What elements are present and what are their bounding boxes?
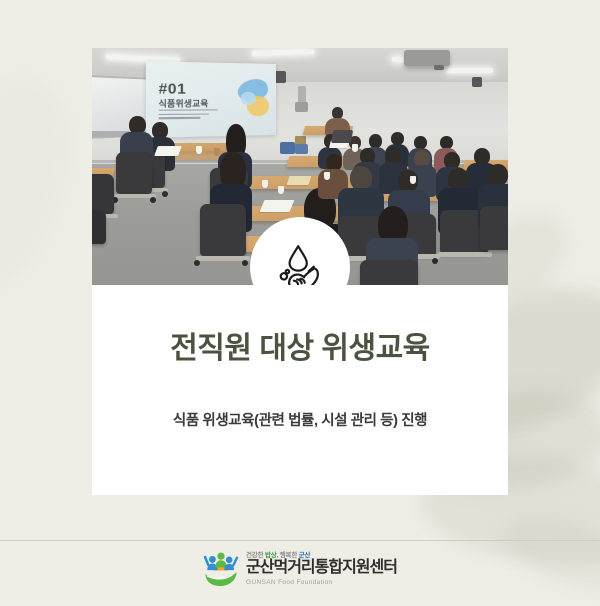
footer-divider xyxy=(0,540,600,541)
chair-empty-1 xyxy=(92,174,114,214)
cup-2 xyxy=(214,148,220,156)
slide-body-lines xyxy=(159,109,220,121)
chair-wheel-8 xyxy=(242,260,248,266)
chair-wheel-4 xyxy=(150,197,156,203)
footer-logo: 건강한 밥상, 행복한 군산 군산먹거리통합지원센터 GUNSAN Food F… xyxy=(0,545,600,590)
handout-1 xyxy=(154,146,182,156)
chair-left-front xyxy=(116,152,152,194)
footer-organization-name-en: GUNSAN Food Foundation xyxy=(246,579,397,586)
wall-box xyxy=(295,102,308,112)
footer-tagline: 건강한 밥상, 행복한 군산 xyxy=(246,549,397,559)
chair-center-2 xyxy=(200,204,246,256)
chair-wheel-12 xyxy=(432,258,438,264)
recycle-bin-1 xyxy=(280,142,295,154)
footer-logo-text: 건강한 밥상, 행복한 군산 군산먹거리통합지원센터 GUNSAN Food F… xyxy=(246,549,397,586)
slide-graphic-lightblue xyxy=(241,92,256,105)
slide-number: #01 xyxy=(159,80,187,97)
wall-speaker-2 xyxy=(472,77,482,87)
cup-7 xyxy=(352,144,358,152)
laptop xyxy=(331,130,353,143)
chair-wheel-7 xyxy=(194,260,200,266)
page-subtitle: 식품 위생교육(관련 법률, 시설 관리 등) 진행 xyxy=(92,409,508,430)
gunsan-food-foundation-emblem-icon xyxy=(203,549,239,587)
snack-1 xyxy=(287,176,312,185)
handout-2 xyxy=(260,200,295,212)
leaf-shadow-left xyxy=(0,63,89,304)
cup-4 xyxy=(278,186,284,194)
footer-organization-name: 군산먹거리통합지원센터 xyxy=(246,560,397,577)
projector-lens xyxy=(434,65,444,70)
recycle-bin-2 xyxy=(295,144,308,154)
cup-3 xyxy=(262,180,268,188)
chair-wheel-2 xyxy=(162,191,168,197)
chair-right-front-4 xyxy=(480,206,508,250)
chair-base-8 xyxy=(438,252,492,257)
cup-6 xyxy=(410,176,416,184)
ceiling-projector xyxy=(404,50,450,66)
content-card: 전직원 대상 위생교육 식품 위생교육(관련 법률, 시설 관리 등) 진행 xyxy=(92,285,508,495)
ceiling-light-4 xyxy=(447,68,493,73)
slide-caption: 식품위생교육 xyxy=(159,98,209,110)
chair-empty-2 xyxy=(92,210,106,244)
page-title: 전직원 대상 위생교육 xyxy=(92,330,508,368)
cup-5 xyxy=(324,172,330,180)
cup-1 xyxy=(196,146,202,154)
